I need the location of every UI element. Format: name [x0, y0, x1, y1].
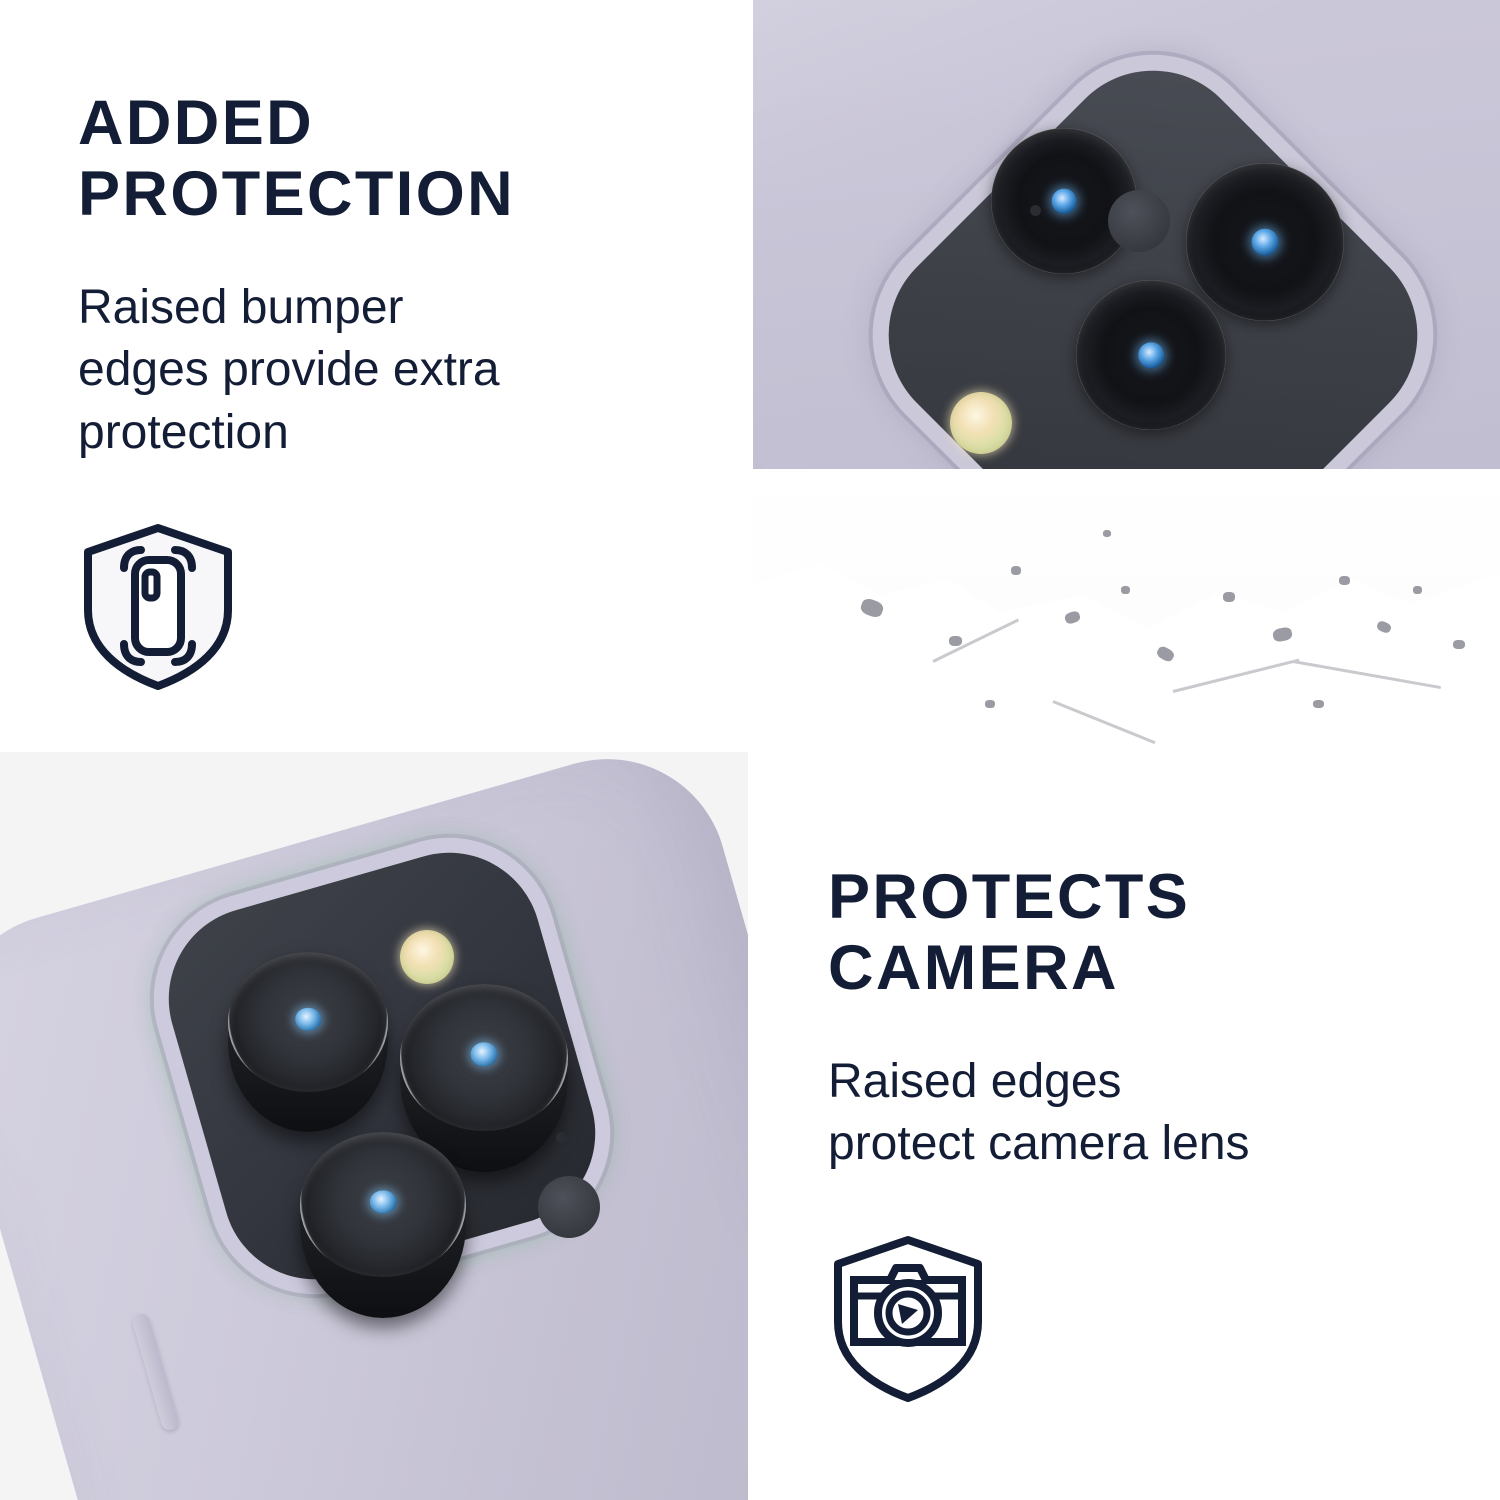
added-protection-headline: ADDED PROTECTION [78, 88, 678, 229]
protects-camera-content: PROTECTS CAMERA Raised edges protect cam… [828, 862, 1448, 1404]
microphone-pinhole-closeup [556, 1132, 567, 1143]
added-protection-content: ADDED PROTECTION Raised bumper edges pro… [78, 88, 678, 692]
shield-phone-icon [78, 522, 238, 692]
debris-particle [1103, 530, 1111, 537]
debris-particle [1121, 586, 1130, 594]
protects-camera-subcopy: Raised edges protect camera lens [828, 1051, 1448, 1176]
debris-particle [1223, 592, 1235, 602]
photo-camera-closeup [0, 752, 748, 1500]
photo-impact-shot [753, 0, 1500, 744]
debris-particle [1313, 700, 1324, 708]
shield-camera-icon [828, 1234, 988, 1404]
added-protection-subcopy: Raised bumper edges provide extra protec… [78, 277, 678, 464]
shield-phone-icon-wrap [78, 522, 678, 692]
camera-lens-bottom [1076, 280, 1226, 430]
camera-barrel-bottom [300, 1132, 466, 1318]
camera-flash [950, 392, 1012, 454]
debris-particle [985, 700, 995, 708]
lidar-sensor [1108, 190, 1170, 252]
camera-lens-right [1186, 163, 1344, 321]
debris-particle [1339, 576, 1350, 585]
camera-barrel-top-left [228, 952, 388, 1132]
panel-protects-camera: PROTECTS CAMERA Raised edges protect cam… [753, 752, 1500, 1500]
lidar-sensor-closeup [538, 1176, 600, 1238]
lens-glass [228, 952, 388, 1092]
closeup-scene [0, 752, 748, 1500]
debris-particle [1453, 640, 1465, 649]
protects-camera-headline: PROTECTS CAMERA [828, 862, 1448, 1003]
camera-flash-closeup [400, 930, 454, 984]
debris-particle [1413, 586, 1422, 594]
debris-particle [1011, 566, 1021, 575]
debris-particle [949, 636, 962, 646]
impact-scene [753, 0, 1500, 744]
panel-added-protection: ADDED PROTECTION Raised bumper edges pro… [0, 0, 748, 744]
lens-glass [400, 984, 568, 1131]
shield-camera-icon-wrap [828, 1234, 1448, 1404]
lens-glass [300, 1132, 466, 1277]
product-feature-grid: ADDED PROTECTION Raised bumper edges pro… [0, 0, 1500, 1500]
microphone-pinhole [1030, 205, 1041, 216]
